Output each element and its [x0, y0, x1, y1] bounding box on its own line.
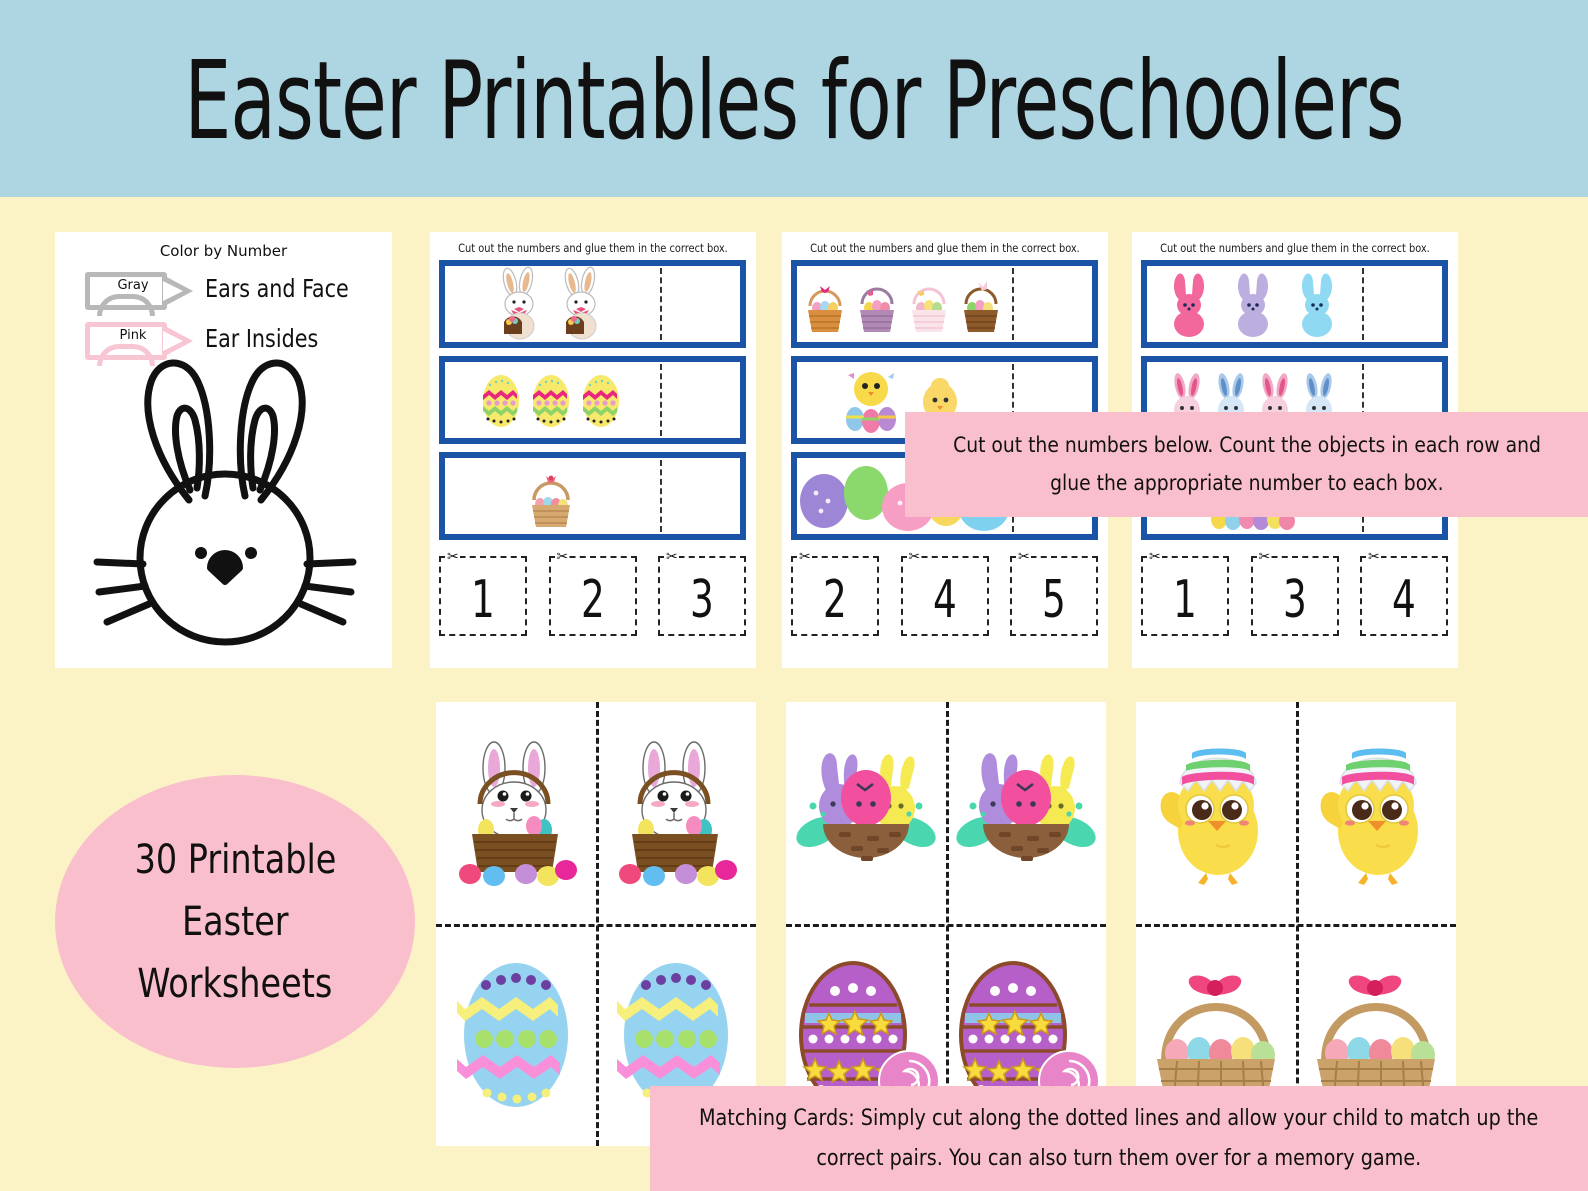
scissors-icon: ✂: [446, 549, 460, 563]
bunny-in-wicker-basket-with-eggs-icon: [606, 738, 746, 888]
badge-line-2: Easter: [182, 891, 289, 953]
peep-bunny-icon: [1168, 271, 1210, 337]
number-card[interactable]: ✂ 3: [1251, 556, 1339, 636]
worksheet-count-badge: 30 Printable Easter Worksheets: [55, 775, 415, 1068]
number-card-value: 2: [823, 574, 847, 626]
number-card[interactable]: ✂ 4: [1360, 556, 1448, 636]
count-row-objects: [445, 362, 656, 438]
matching-instructions-banner: Matching Cards: Simply cut along the dot…: [650, 1086, 1588, 1191]
count-row-objects: [797, 266, 1008, 342]
poster-header: Easter Printables for Preschoolers: [0, 0, 1588, 197]
number-card-value: 4: [1392, 574, 1416, 626]
legend-target-label: Ears and Face: [205, 274, 349, 303]
count-row-objects: [445, 266, 656, 342]
number-card-value: 4: [933, 574, 957, 626]
scissors-icon: ✂: [908, 549, 922, 563]
peep-bunny-icon: [1232, 271, 1274, 337]
bunny-in-wicker-basket-with-eggs-icon: [446, 738, 586, 888]
cut-line-horizontal: [436, 924, 756, 927]
bunny-with-basket-icon: [492, 268, 548, 340]
number-card-value: 3: [690, 574, 714, 626]
matching-card[interactable]: [596, 702, 756, 924]
scissors-icon: ✂: [798, 549, 812, 563]
worksheet-title: Color by Number: [55, 242, 392, 260]
count-row-objects: [1147, 266, 1358, 342]
peep-bunny-icon: [1296, 271, 1338, 337]
matching-card[interactable]: [436, 924, 596, 1146]
matching-instructions-line-2: correct pairs. You can also turn them ov…: [817, 1139, 1422, 1179]
number-card-value: 1: [1173, 574, 1197, 626]
matching-card-set-1: [436, 702, 756, 1146]
count-instructions-banner: Cut out the numbers below. Count the obj…: [905, 412, 1588, 517]
yellow-chevron-egg-icon: [529, 369, 573, 431]
yellow-chevron-egg-icon: [479, 369, 523, 431]
number-card[interactable]: ✂ 4: [901, 556, 989, 636]
badge-line-1: 30 Printable: [134, 829, 336, 891]
scissors-icon: ✂: [1367, 549, 1381, 563]
chick-in-eggshell-hat-icon: [1146, 727, 1286, 899]
cut-line-horizontal: [786, 924, 1106, 927]
count-row: [439, 356, 746, 444]
easter-basket-icon: [904, 272, 954, 336]
count-row: [439, 260, 746, 348]
matching-card[interactable]: [1296, 702, 1456, 924]
matching-instructions-line-1: Matching Cards: Simply cut along the dot…: [699, 1099, 1538, 1139]
number-card[interactable]: ✂ 2: [549, 556, 637, 636]
yellow-chevron-egg-icon: [579, 369, 623, 431]
number-card-value: 5: [1042, 574, 1066, 626]
count-row: [791, 260, 1098, 348]
number-card[interactable]: ✂ 3: [658, 556, 746, 636]
peeps-in-basket-icon: [795, 740, 937, 886]
count-row-objects: [445, 458, 656, 534]
page-title: Easter Printables for Preschoolers: [111, 28, 1477, 174]
worksheet-instruction: Cut out the numbers and glue them in the…: [1140, 241, 1450, 255]
matching-card[interactable]: [436, 702, 596, 924]
number-card[interactable]: ✂ 2: [791, 556, 879, 636]
count-worksheet-1: Cut out the numbers and glue them in the…: [430, 232, 756, 668]
peeps-in-basket-icon: [955, 740, 1097, 886]
bunny-face-outline-icon: [85, 350, 365, 650]
matching-card[interactable]: [1136, 702, 1296, 924]
crayon-color-label: Gray: [101, 278, 165, 293]
number-card[interactable]: ✂ 1: [439, 556, 527, 636]
number-card-value: 2: [581, 574, 605, 626]
scissors-icon: ✂: [556, 549, 570, 563]
answer-box[interactable]: [660, 268, 738, 340]
answer-box[interactable]: [660, 364, 738, 436]
number-card-strip: ✂ 1 ✂ 2 ✂ 3: [439, 556, 746, 638]
answer-box[interactable]: [1012, 268, 1090, 340]
badge-line-3: Worksheets: [138, 953, 333, 1015]
easter-basket-icon: [852, 272, 902, 336]
poster-canvas: Easter Printables for Preschoolers Color…: [0, 0, 1588, 1191]
matching-card[interactable]: [786, 702, 946, 924]
scissors-icon: ✂: [1017, 549, 1031, 563]
count-instructions-line-1: Cut out the numbers below. Count the obj…: [953, 427, 1541, 465]
chick-with-eggs-icon: [841, 363, 901, 437]
easter-basket-icon: [800, 272, 850, 336]
number-card-strip: ✂ 1 ✂ 3 ✂ 4: [1141, 556, 1448, 638]
bunny-with-basket-icon: [554, 268, 610, 340]
legend-target-label: Ear Insides: [205, 324, 318, 353]
answer-box[interactable]: [1362, 268, 1440, 340]
blue-chevron-egg-icon: [456, 951, 576, 1119]
count-row: [1141, 260, 1448, 348]
chick-in-eggshell-hat-icon: [1306, 727, 1446, 899]
scissors-icon: ✂: [1258, 549, 1272, 563]
easter-basket-icon: [956, 272, 1006, 336]
worksheet-instruction: Cut out the numbers and glue them in the…: [790, 241, 1100, 255]
color-by-number-worksheet: Color by Number Gray Ears and Face Pink …: [55, 232, 392, 668]
number-card[interactable]: ✂ 5: [1010, 556, 1098, 636]
count-row: [439, 452, 746, 540]
matching-card-set-3: [1136, 702, 1456, 1146]
scissors-icon: ✂: [1148, 549, 1162, 563]
answer-box[interactable]: [660, 460, 738, 532]
crayon-color-label: Pink: [101, 328, 165, 343]
cut-line-horizontal: [1136, 924, 1456, 927]
gray-crayon-icon: Gray: [85, 272, 197, 310]
number-card[interactable]: ✂ 1: [1141, 556, 1229, 636]
worksheet-instruction: Cut out the numbers and glue them in the…: [438, 241, 748, 255]
matching-card[interactable]: [946, 702, 1106, 924]
scissors-icon: ✂: [665, 549, 679, 563]
matching-card-set-2: [786, 702, 1106, 1146]
wicker-basket-with-eggs-icon: [516, 460, 586, 532]
number-card-value: 1: [471, 574, 495, 626]
number-card-strip: ✂ 2 ✂ 4 ✂ 5: [791, 556, 1098, 638]
count-instructions-line-2: glue the appropriate number to each box.: [1050, 465, 1444, 503]
number-card-value: 3: [1283, 574, 1307, 626]
